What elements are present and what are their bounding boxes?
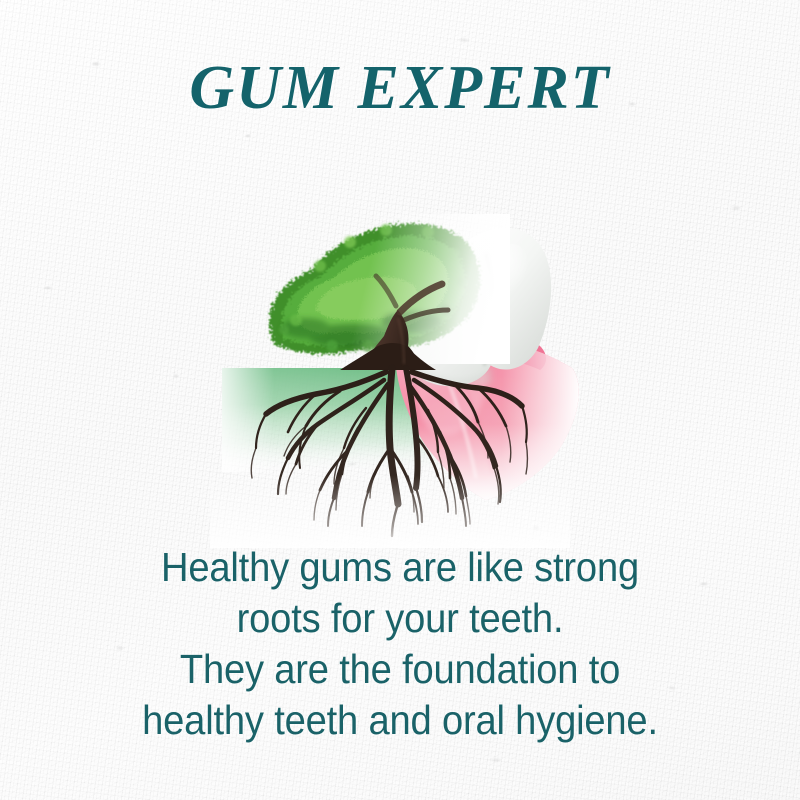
caption-line-1: Healthy gums are like strong (28, 542, 772, 593)
caption-line-3: They are the foundation to (28, 644, 772, 695)
caption-line-2: roots for your teeth. (28, 593, 772, 644)
poster-canvas: GUM EXPERT (0, 0, 800, 800)
tree-tooth-composite-illustration (200, 170, 620, 550)
caption-block: Healthy gums are like strong roots for y… (0, 542, 800, 746)
page-title: GUM EXPERT (0, 56, 800, 121)
caption-line-4: healthy teeth and oral hygiene. (28, 695, 772, 746)
tree-roots (210, 366, 570, 548)
